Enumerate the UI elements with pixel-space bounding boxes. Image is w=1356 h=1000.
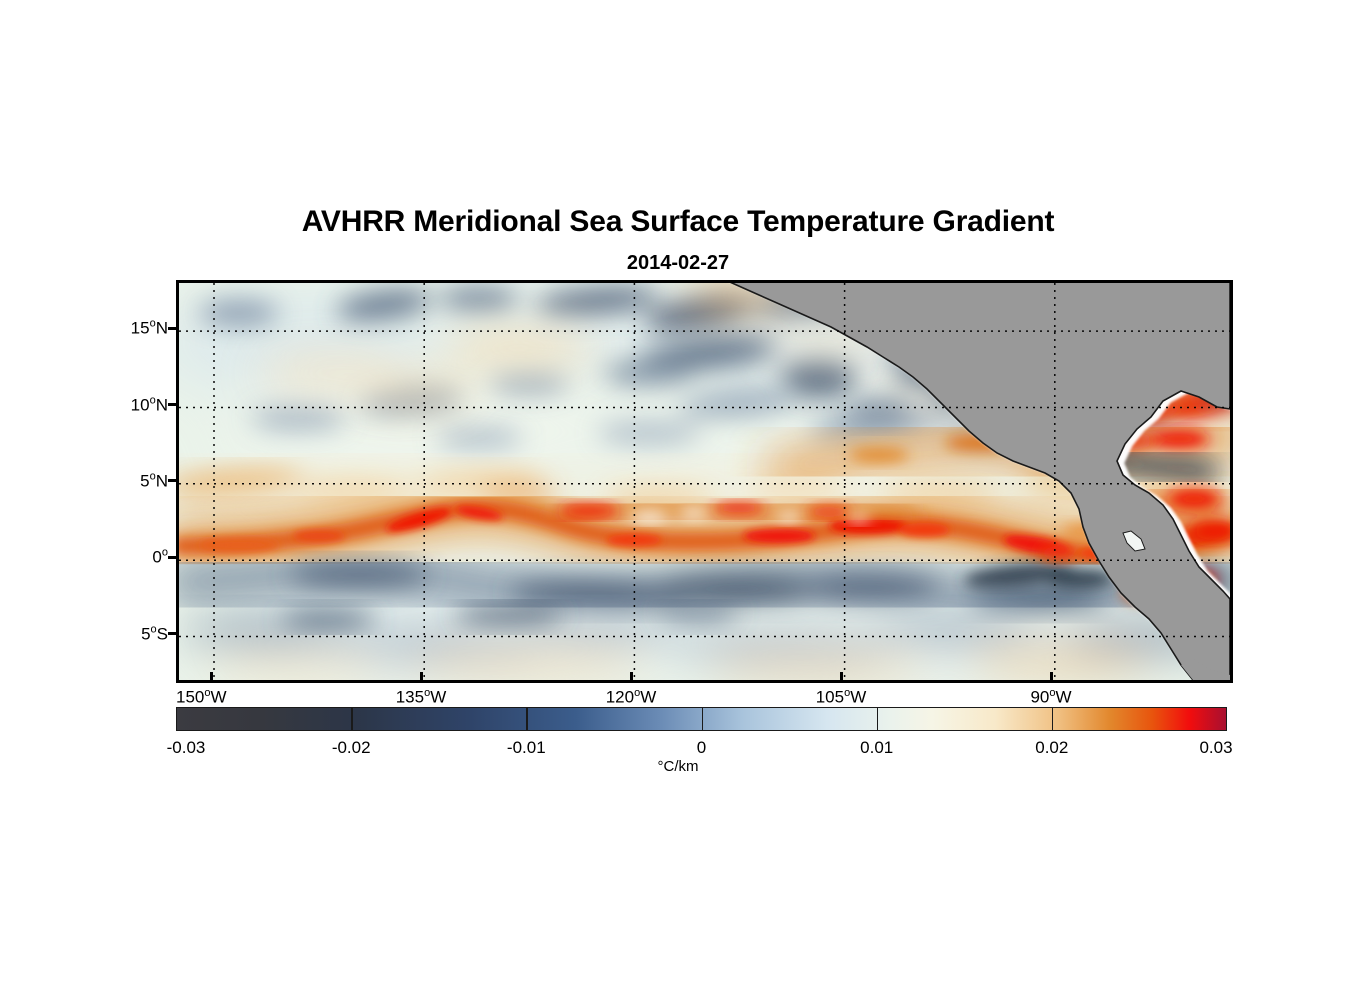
ytick-mark [168, 403, 177, 406]
figure-subtitle: 2014-02-27 [0, 252, 1356, 275]
xtick-label-90w: 90oW [1030, 687, 1071, 708]
colorbar-unit-label: °C/km [0, 758, 1356, 775]
colorbar-label-max: 0.03 [1199, 738, 1232, 758]
ytick-label-5s: 5oS [141, 623, 168, 644]
ytick-value: 15 [131, 318, 150, 337]
colorbar-label: -0.01 [507, 738, 546, 758]
ytick-mark [168, 327, 177, 330]
ytick-hemisphere: S [157, 624, 168, 643]
colorbar-label: 0.01 [860, 738, 893, 758]
colorbar-label-min: -0.03 [167, 738, 206, 758]
xtick-value: 90 [1030, 688, 1049, 707]
colorbar-label: -0.02 [332, 738, 371, 758]
colorbar-tick [702, 707, 704, 731]
degree-superscript: o [162, 547, 168, 559]
xtick-value: 120 [606, 688, 634, 707]
ytick-hemisphere: N [156, 471, 168, 490]
ytick-hemisphere: N [156, 318, 168, 337]
map-plot-area [176, 280, 1233, 683]
colorbar-tick [877, 707, 879, 731]
colorbar-tick [526, 707, 528, 731]
xtick-mark [630, 672, 633, 681]
xtick-hemisphere: W [640, 688, 656, 707]
ytick-hemisphere: N [156, 395, 168, 414]
sst-gradient-heatmap [179, 283, 1230, 680]
xtick-value: 105 [816, 688, 844, 707]
colorbar-tick [351, 707, 353, 731]
ytick-label-0: 0o [152, 547, 168, 568]
figure-canvas: AVHRR Meridional Sea Surface Temperature… [0, 0, 1356, 1000]
xtick-value: 135 [396, 688, 424, 707]
ytick-value: 10 [131, 395, 150, 414]
xtick-mark [420, 672, 423, 681]
colorbar-label-zero: 0 [697, 738, 706, 758]
xtick-hemisphere: W [211, 688, 227, 707]
figure-title: AVHRR Meridional Sea Surface Temperature… [0, 205, 1356, 239]
ytick-mark [168, 479, 177, 482]
colorbar-label: 0.02 [1035, 738, 1068, 758]
xtick-label-105w: 105oW [816, 687, 867, 708]
ytick-label-15n: 15oN [131, 318, 168, 339]
xtick-value: 150 [176, 688, 204, 707]
xtick-hemisphere: W [1056, 688, 1072, 707]
xtick-hemisphere: W [850, 688, 866, 707]
ytick-label-10n: 10oN [131, 394, 168, 415]
xtick-label-135w: 135oW [396, 687, 447, 708]
xtick-mark [1050, 672, 1053, 681]
ytick-mark [168, 632, 177, 635]
ytick-label-5n: 5oN [140, 470, 168, 491]
xtick-mark [840, 672, 843, 681]
colorbar-tick [1052, 707, 1054, 731]
xtick-label-120w: 120oW [606, 687, 657, 708]
xtick-hemisphere: W [430, 688, 446, 707]
ytick-mark [168, 556, 177, 559]
xtick-label-150w: 150oW [176, 687, 227, 708]
xtick-mark [210, 672, 213, 681]
